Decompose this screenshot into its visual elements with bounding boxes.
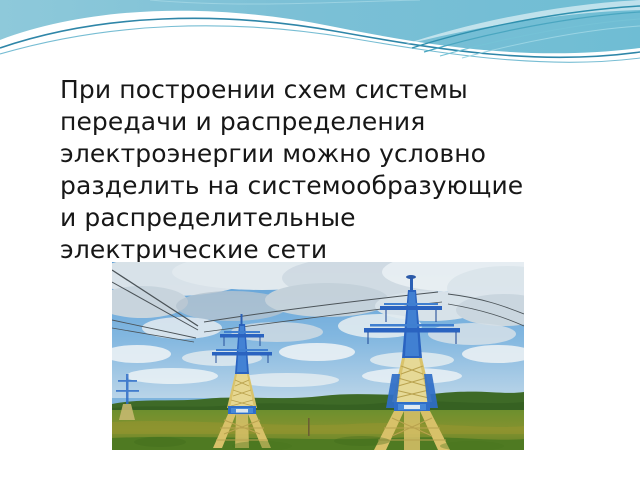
body-text-line: и распределительные [60,202,618,234]
body-text-line: электроэнергии можно условно [60,138,618,170]
body-text-line: При построении схем системы [60,74,618,106]
power-transmission-towers-photo [112,262,524,450]
slide-body-text: При построении схем системы передачи и р… [60,74,618,266]
photo-field-pole [308,418,310,436]
body-text-line: передачи и распределения [60,106,618,138]
presentation-slide: При построении схем системы передачи и р… [0,0,640,480]
body-text-line: разделить на системообразующие [60,170,618,202]
wave-graphic [0,0,640,78]
decorative-wave-banner [0,0,640,78]
photo-content [112,262,524,450]
